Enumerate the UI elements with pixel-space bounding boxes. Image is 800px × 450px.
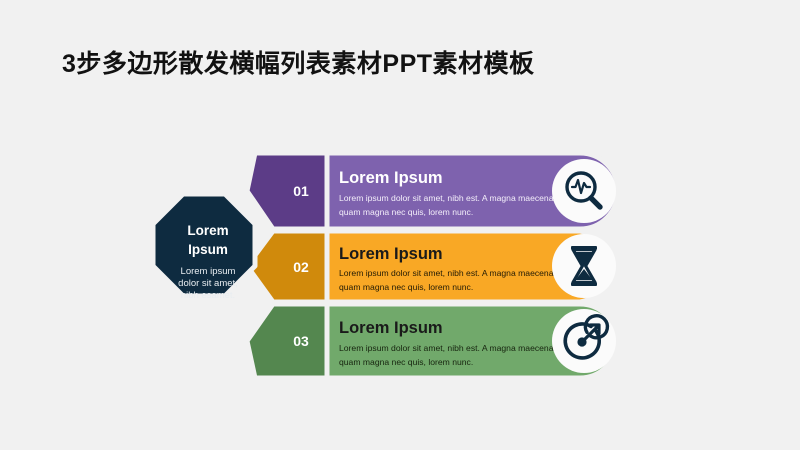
row-3-number-tab xyxy=(247,304,333,378)
row-1-desc-line1: Lorem ipsum dolor sit amet, nibh est. A … xyxy=(339,193,560,203)
center-octagon-title-line1: Lorem xyxy=(187,223,228,238)
center-octagon-desc-line2: dolor sit amet, xyxy=(178,278,238,289)
row-1-number-tab xyxy=(247,153,333,229)
center-octagon-title-line2: Ipsum xyxy=(188,242,228,257)
center-octagon[interactable]: Lorem Ipsum Lorem ipsum dolor sit amet, … xyxy=(153,194,255,301)
center-octagon-desc-line3: nibh esamet. xyxy=(181,290,235,301)
row-1-desc-line2: quam magna nec quis, lorem nunc. xyxy=(339,207,473,217)
row-3-title: Lorem Ipsum xyxy=(339,319,443,337)
row-3-number: 03 xyxy=(293,333,309,349)
process-row-2[interactable]: 02 Lorem Ipsum Lorem ipsum dolor sit ame… xyxy=(247,231,616,302)
row-3-desc-line2: quam magna nec quis, lorem nunc. xyxy=(339,357,473,367)
row-1-title: Lorem Ipsum xyxy=(339,169,443,187)
slide-canvas: 3步多边形散发横幅列表素材PPT素材模板 soosuo 01 Lorem Ips… xyxy=(0,0,800,450)
page-title: 3步多边形散发横幅列表素材PPT素材模板 xyxy=(62,44,535,80)
row-2-title: Lorem Ipsum xyxy=(339,245,443,263)
center-octagon-desc-line1: Lorem ipsum xyxy=(181,266,236,277)
row-3-desc-line1: Lorem ipsum dolor sit amet, nibh est. A … xyxy=(339,343,560,353)
row-1-number: 01 xyxy=(293,183,309,199)
row-2-number: 02 xyxy=(293,259,309,275)
process-row-1[interactable]: 01 Lorem Ipsum Lorem ipsum dolor sit ame… xyxy=(247,153,618,229)
row-2-desc-line1: Lorem ipsum dolor sit amet, nibh est. A … xyxy=(339,268,560,278)
row-1-icon-circle xyxy=(552,159,616,223)
row-2-desc-line2: quam magna nec quis, lorem nunc. xyxy=(339,282,473,292)
process-row-3[interactable]: 03 Lorem Ipsum Lorem ipsum dolor sit ame… xyxy=(247,304,617,378)
row-2-number-tab xyxy=(247,231,333,302)
process-diagram: 01 Lorem Ipsum Lorem ipsum dolor sit ame… xyxy=(0,130,800,400)
